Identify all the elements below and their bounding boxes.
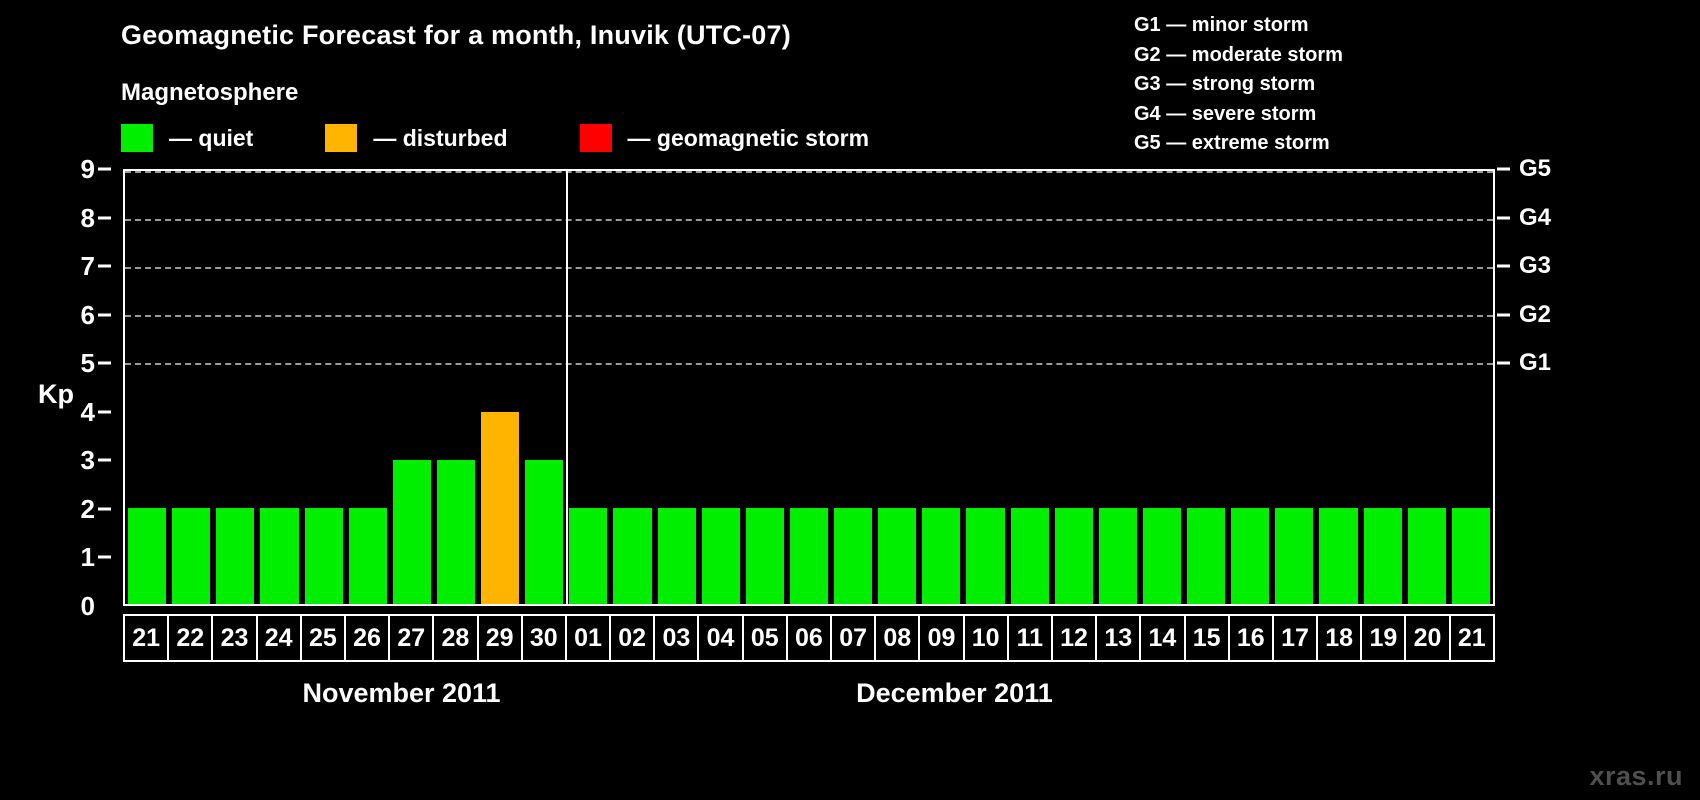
bar-slot bbox=[919, 171, 963, 604]
date-label: 06 bbox=[795, 626, 823, 651]
date-label: 28 bbox=[442, 626, 470, 651]
y-tick-mark bbox=[98, 362, 111, 365]
date-cell[interactable]: 22 bbox=[167, 614, 213, 662]
date-label: 11 bbox=[1017, 626, 1043, 651]
gscale-key-row: G1 — minor storm bbox=[1134, 11, 1343, 41]
y-tick-mark bbox=[98, 507, 111, 510]
y-tick-label: 7 bbox=[81, 253, 95, 279]
date-cell[interactable]: 29 bbox=[477, 614, 523, 662]
bar-slot bbox=[743, 171, 787, 604]
bar[interactable] bbox=[1408, 508, 1446, 604]
date-cell[interactable]: 18 bbox=[1316, 614, 1362, 662]
bar[interactable] bbox=[349, 508, 387, 604]
date-cell[interactable]: 14 bbox=[1139, 614, 1185, 662]
month-caption: December 2011 bbox=[856, 678, 1053, 709]
bar-slot bbox=[390, 171, 434, 604]
bar-slot bbox=[1008, 171, 1052, 604]
bar-slot bbox=[169, 171, 213, 604]
gscale-key-row: G5 — extreme storm bbox=[1134, 129, 1343, 159]
date-label: 17 bbox=[1281, 626, 1309, 651]
date-cell[interactable]: 17 bbox=[1272, 614, 1318, 662]
date-label: 04 bbox=[707, 626, 735, 651]
date-cell[interactable]: 07 bbox=[830, 614, 876, 662]
date-cell[interactable]: 24 bbox=[256, 614, 302, 662]
bar-slot bbox=[699, 171, 743, 604]
date-cell[interactable]: 08 bbox=[874, 614, 920, 662]
y-tick-label: 1 bbox=[81, 544, 95, 570]
y-tick-label: 2 bbox=[81, 496, 95, 522]
date-label: 30 bbox=[530, 626, 558, 651]
plot-area bbox=[123, 169, 1495, 606]
date-label: 05 bbox=[751, 626, 779, 651]
y-tick-label: 4 bbox=[81, 399, 95, 425]
y-tick-label: 3 bbox=[81, 447, 95, 473]
g-tick-label: G4 bbox=[1519, 206, 1551, 230]
date-label: 14 bbox=[1149, 626, 1177, 651]
date-label: 12 bbox=[1060, 626, 1088, 651]
date-label: 19 bbox=[1369, 626, 1397, 651]
bar[interactable] bbox=[1452, 508, 1490, 604]
date-cell[interactable]: 25 bbox=[300, 614, 346, 662]
date-cell[interactable]: 30 bbox=[521, 614, 567, 662]
date-cell[interactable]: 12 bbox=[1051, 614, 1097, 662]
bar-slot bbox=[875, 171, 919, 604]
y-tick-mark bbox=[98, 168, 111, 171]
date-cell[interactable]: 11 bbox=[1007, 614, 1053, 662]
legend-label-disturbed: — disturbed bbox=[373, 125, 507, 152]
y-tick-label: 0 bbox=[81, 593, 95, 619]
date-label: 27 bbox=[397, 626, 425, 651]
date-label: 23 bbox=[221, 626, 249, 651]
bar-slot bbox=[1272, 171, 1316, 604]
bar[interactable] bbox=[1364, 508, 1402, 604]
y-tick-label: 8 bbox=[81, 205, 95, 231]
bar-slot bbox=[1449, 171, 1493, 604]
bar[interactable] bbox=[746, 508, 784, 604]
date-axis: 2122232425262728293001020304050607080910… bbox=[123, 614, 1495, 662]
g-tick-mark bbox=[1497, 313, 1510, 316]
bar-slot bbox=[478, 171, 522, 604]
date-label: 08 bbox=[883, 626, 911, 651]
date-label: 15 bbox=[1193, 626, 1221, 651]
bar-slot bbox=[831, 171, 875, 604]
date-label: 13 bbox=[1104, 626, 1132, 651]
bar[interactable] bbox=[569, 508, 607, 604]
bar[interactable] bbox=[834, 508, 872, 604]
legend-item-storm: — geomagnetic storm bbox=[580, 124, 870, 152]
bar-slot bbox=[257, 171, 301, 604]
date-label: 02 bbox=[618, 626, 646, 651]
date-cell[interactable]: 09 bbox=[918, 614, 964, 662]
date-cell[interactable]: 21 bbox=[1449, 614, 1495, 662]
bar[interactable] bbox=[1099, 508, 1137, 604]
bar[interactable] bbox=[172, 508, 210, 604]
magnetosphere-legend: — quiet — disturbed — geomagnetic storm bbox=[121, 124, 869, 152]
gscale-key: G1 — minor stormG2 — moderate stormG3 — … bbox=[1134, 11, 1343, 159]
date-cell[interactable]: 20 bbox=[1404, 614, 1450, 662]
bar[interactable] bbox=[393, 460, 431, 604]
bar-slot bbox=[1052, 171, 1096, 604]
g-tick-label: G5 bbox=[1519, 157, 1551, 181]
bar[interactable] bbox=[966, 508, 1004, 604]
date-label: 09 bbox=[928, 626, 956, 651]
bar-slot bbox=[1184, 171, 1228, 604]
date-cell[interactable]: 13 bbox=[1095, 614, 1141, 662]
bar[interactable] bbox=[1055, 508, 1093, 604]
month-captions: November 2011December 2011 bbox=[0, 678, 1700, 718]
date-cell[interactable]: 05 bbox=[742, 614, 788, 662]
bar-slot bbox=[1228, 171, 1272, 604]
bar[interactable] bbox=[437, 460, 475, 604]
y-tick-mark bbox=[98, 265, 111, 268]
date-label: 16 bbox=[1237, 626, 1265, 651]
bar[interactable] bbox=[525, 460, 563, 604]
date-label: 07 bbox=[839, 626, 867, 651]
date-label: 21 bbox=[132, 626, 160, 651]
bar[interactable] bbox=[613, 508, 651, 604]
bar-slot bbox=[1096, 171, 1140, 604]
bar[interactable] bbox=[878, 508, 916, 604]
legend-label-quiet: — quiet bbox=[169, 125, 253, 152]
bar-slot bbox=[125, 171, 169, 604]
bar-slot bbox=[1316, 171, 1360, 604]
bar[interactable] bbox=[922, 508, 960, 604]
watermark: xras.ru bbox=[1589, 761, 1683, 792]
g-tick-mark bbox=[1497, 265, 1510, 268]
bar-slot bbox=[522, 171, 566, 604]
date-cell[interactable]: 03 bbox=[653, 614, 699, 662]
y-tick-label: 5 bbox=[81, 350, 95, 376]
date-cell[interactable]: 01 bbox=[565, 614, 611, 662]
bar-slot bbox=[346, 171, 390, 604]
legend-swatch-quiet-icon bbox=[121, 124, 153, 152]
legend-swatch-storm-icon bbox=[580, 124, 612, 152]
bar-slot bbox=[434, 171, 478, 604]
bar-slot bbox=[302, 171, 346, 604]
bar[interactable] bbox=[305, 508, 343, 604]
legend-item-disturbed: — disturbed bbox=[325, 124, 507, 152]
date-label: 24 bbox=[265, 626, 293, 651]
date-label: 03 bbox=[662, 626, 690, 651]
date-cell[interactable]: 10 bbox=[963, 614, 1009, 662]
date-cell[interactable]: 16 bbox=[1228, 614, 1274, 662]
date-label: 10 bbox=[972, 626, 1000, 651]
bar-slot bbox=[787, 171, 831, 604]
y-tick-mark bbox=[98, 459, 111, 462]
date-label: 20 bbox=[1414, 626, 1442, 651]
page-title: Geomagnetic Forecast for a month, Inuvik… bbox=[121, 20, 791, 51]
date-label: 29 bbox=[486, 626, 514, 651]
y-tick-mark bbox=[98, 216, 111, 219]
bars-layer bbox=[125, 171, 1493, 604]
bar[interactable] bbox=[216, 508, 254, 604]
bar-slot bbox=[213, 171, 257, 604]
y-tick-label: 9 bbox=[81, 156, 95, 182]
bar-slot bbox=[963, 171, 1007, 604]
date-label: 22 bbox=[176, 626, 204, 651]
bar[interactable] bbox=[702, 508, 740, 604]
bar[interactable] bbox=[1231, 508, 1269, 604]
date-cell[interactable]: 19 bbox=[1360, 614, 1406, 662]
date-cell[interactable]: 15 bbox=[1184, 614, 1230, 662]
month-divider bbox=[566, 169, 568, 606]
date-cell[interactable]: 28 bbox=[432, 614, 478, 662]
date-label: 18 bbox=[1325, 626, 1353, 651]
legend-item-quiet: — quiet bbox=[121, 124, 253, 152]
bar[interactable] bbox=[658, 508, 696, 604]
legend-swatch-disturbed-icon bbox=[325, 124, 357, 152]
gscale-key-row: G3 — strong storm bbox=[1134, 70, 1343, 100]
gscale-key-row: G2 — moderate storm bbox=[1134, 41, 1343, 71]
month-caption: November 2011 bbox=[302, 678, 500, 709]
date-label: 26 bbox=[353, 626, 381, 651]
bar-slot bbox=[610, 171, 654, 604]
date-label: 01 bbox=[574, 626, 602, 651]
bar[interactable] bbox=[1275, 508, 1313, 604]
magnetosphere-heading: Magnetosphere bbox=[121, 79, 298, 107]
g-tick-mark bbox=[1497, 168, 1510, 171]
date-label: 25 bbox=[309, 626, 337, 651]
date-cell[interactable]: 04 bbox=[697, 614, 743, 662]
g-tick-label: G2 bbox=[1519, 303, 1551, 327]
bar-slot bbox=[1140, 171, 1184, 604]
y-axis-title: Kp bbox=[38, 379, 74, 410]
gscale-key-row: G4 — severe storm bbox=[1134, 100, 1343, 130]
legend-label-storm: — geomagnetic storm bbox=[628, 125, 870, 152]
date-cell[interactable]: 27 bbox=[388, 614, 434, 662]
bar[interactable] bbox=[790, 508, 828, 604]
bar[interactable] bbox=[1011, 508, 1049, 604]
bar-slot bbox=[566, 171, 610, 604]
bar[interactable] bbox=[260, 508, 298, 604]
date-cell[interactable]: 21 bbox=[123, 614, 169, 662]
g-tick-label: G3 bbox=[1519, 254, 1551, 278]
bar[interactable] bbox=[128, 508, 166, 604]
g-tick-label: G1 bbox=[1519, 351, 1551, 375]
date-cell[interactable]: 26 bbox=[344, 614, 390, 662]
date-cell[interactable]: 06 bbox=[786, 614, 832, 662]
y-tick-label: 6 bbox=[81, 302, 95, 328]
bar[interactable] bbox=[1187, 508, 1225, 604]
bar-slot bbox=[1361, 171, 1405, 604]
date-cell[interactable]: 02 bbox=[609, 614, 655, 662]
date-label: 21 bbox=[1458, 626, 1486, 651]
bar[interactable] bbox=[481, 412, 519, 604]
g-tick-mark bbox=[1497, 216, 1510, 219]
bar[interactable] bbox=[1143, 508, 1181, 604]
y-tick-mark bbox=[98, 556, 111, 559]
g-axis: G1G2G3G4G5 bbox=[1495, 169, 1700, 606]
bar-slot bbox=[1405, 171, 1449, 604]
bar[interactable] bbox=[1319, 508, 1357, 604]
y-tick-mark bbox=[98, 410, 111, 413]
y-tick-mark bbox=[98, 313, 111, 316]
date-cell[interactable]: 23 bbox=[211, 614, 257, 662]
g-tick-mark bbox=[1497, 362, 1510, 365]
bar-slot bbox=[655, 171, 699, 604]
